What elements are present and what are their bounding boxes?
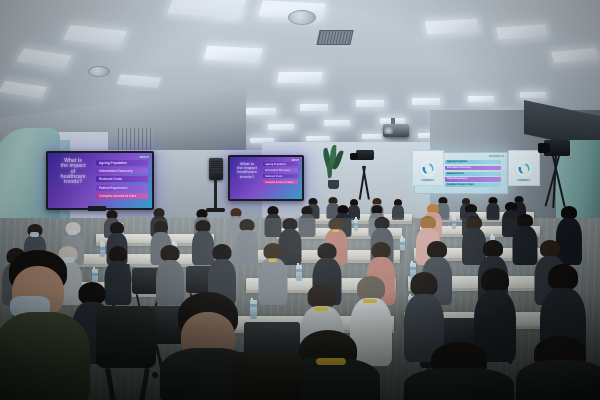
stage-screen-header-right: SESSION 02 bbox=[489, 155, 504, 158]
ceiling-light-panel bbox=[551, 48, 599, 63]
slide-bar: Ageing Population bbox=[96, 160, 148, 166]
attendee bbox=[392, 199, 404, 219]
slide-bar: Reduced Costs bbox=[263, 174, 298, 178]
event-logo-right: CONNECT bbox=[508, 150, 540, 186]
projector-icon bbox=[383, 124, 409, 137]
ceiling-light-panel bbox=[306, 136, 330, 141]
ceiling-light-panel bbox=[167, 0, 246, 19]
slide-bar: Ageing Population bbox=[263, 162, 298, 166]
ceiling-light-panel bbox=[16, 48, 71, 68]
ceiling-light-panel bbox=[0, 81, 47, 98]
camera-operator-rig bbox=[352, 150, 378, 192]
q-line: trends? bbox=[53, 180, 93, 185]
ceiling-light-panel bbox=[63, 25, 127, 46]
conference-room-photo: LIVE SESSION 02 What is the impact of he… bbox=[0, 0, 600, 400]
ceiling-light-panel bbox=[412, 98, 440, 105]
display-screen-center: MENTI What is the impact healthcare tren… bbox=[228, 155, 304, 201]
logo-caption: CONNECT bbox=[509, 179, 539, 182]
ceiling-light-panel bbox=[117, 74, 162, 88]
ceiling-speaker-icon bbox=[88, 66, 110, 77]
ceiling-light-panel bbox=[277, 72, 323, 83]
slide-bar: Information Discovery bbox=[263, 168, 298, 172]
display-screen-left: MENTI What is the impact of healthcare t… bbox=[46, 151, 154, 210]
floor-shadow-overlay bbox=[0, 218, 600, 400]
stage-screen-bars: Ageing Population Information Discovery … bbox=[445, 160, 501, 187]
pa-speaker-icon bbox=[209, 158, 223, 180]
stage-bar: Reduced Costs bbox=[445, 172, 501, 176]
ceiling-light-panel bbox=[356, 100, 384, 107]
stage-bar: Ageing Population bbox=[445, 160, 501, 164]
slide-bar: Patient Experience bbox=[96, 185, 148, 191]
event-logo-left: CONNECT bbox=[412, 150, 444, 186]
screen-brand-label: MENTI bbox=[140, 155, 149, 159]
stage-bar: Complex Access to Care bbox=[445, 183, 501, 187]
camera-tripod-right bbox=[540, 140, 580, 210]
swirl-logo-icon bbox=[516, 160, 533, 177]
camera-lens-icon bbox=[350, 153, 358, 160]
ceiling-light-panel bbox=[324, 120, 350, 126]
slide-bars-center: Ageing Population Information Discovery … bbox=[263, 162, 298, 184]
slide-bar: Information Discovery bbox=[96, 168, 148, 174]
slide-bar: Complex Access to Care bbox=[96, 193, 148, 199]
ceiling-light-panel bbox=[362, 134, 385, 139]
slide-bars-left: Ageing Population Information Discovery … bbox=[96, 160, 148, 199]
ceiling-light-panel bbox=[425, 19, 479, 35]
camera-icon bbox=[356, 150, 374, 160]
slide-bar: Complex Access to Care bbox=[263, 180, 298, 184]
potted-plant-icon bbox=[322, 148, 344, 182]
ceiling-light-panel bbox=[520, 92, 546, 98]
camera-lens-icon bbox=[538, 143, 550, 153]
logo-caption: CONNECT bbox=[413, 179, 443, 182]
ceiling-light-panel bbox=[300, 104, 328, 111]
slide-bar: Reduced Costs bbox=[96, 176, 148, 182]
speaker-stand bbox=[214, 180, 217, 210]
attendee bbox=[486, 197, 499, 219]
stage-bar: Information Discovery bbox=[445, 166, 501, 170]
ceiling-speaker-icon bbox=[288, 10, 316, 25]
camera-icon bbox=[544, 140, 570, 156]
ceiling-light-panel bbox=[496, 24, 548, 39]
q-line: trends? bbox=[234, 175, 260, 179]
ceiling-light-panel bbox=[468, 96, 494, 102]
stage-bar: Patient Experience bbox=[445, 177, 501, 181]
ceiling-light-panel bbox=[268, 124, 294, 130]
ceiling-light-panel bbox=[203, 46, 262, 63]
plant-pot bbox=[328, 180, 339, 189]
ceiling-light-panel bbox=[246, 108, 276, 115]
swirl-logo-icon bbox=[420, 160, 437, 177]
slide-question-center: What is the impact healthcare trends? bbox=[234, 162, 260, 179]
ceiling-vent-icon bbox=[316, 30, 353, 45]
slide-question-left: What is the impact of healthcare trends? bbox=[53, 159, 93, 185]
